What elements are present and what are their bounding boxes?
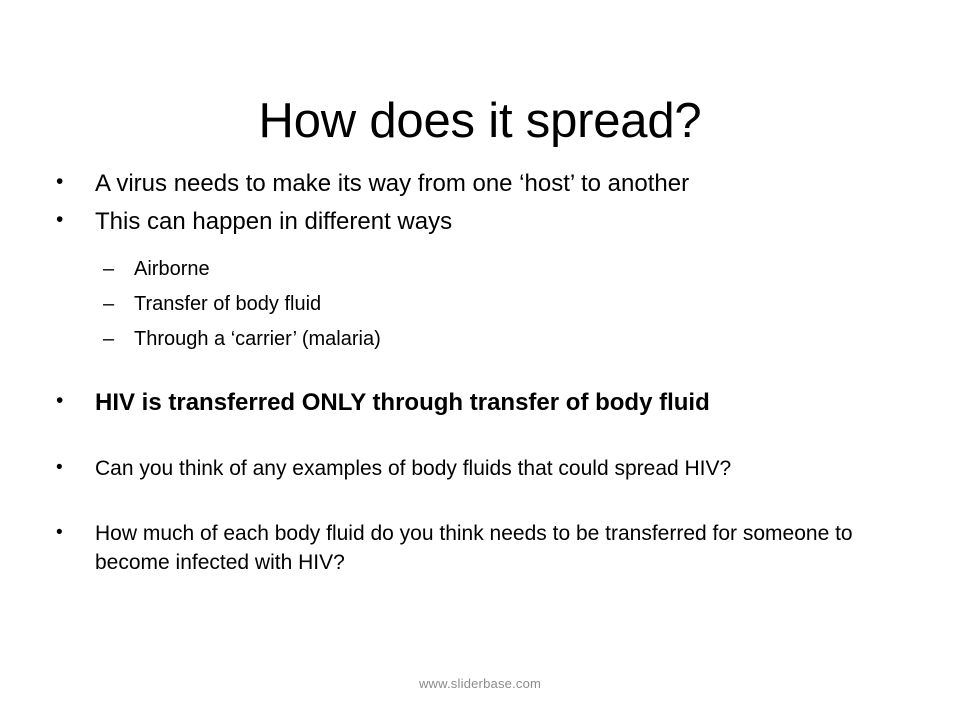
bullet-marker-icon: • [56, 168, 63, 196]
page-title: How does it spread? [0, 95, 960, 149]
list-item: • This can happen in different ways [56, 206, 904, 238]
slide: How does it spread? • A virus needs to m… [0, 0, 960, 720]
spacer [56, 361, 904, 387]
bullet-marker-icon: • [56, 455, 63, 481]
bullet-list: • A virus needs to make its way from one… [56, 168, 904, 578]
list-item: – Transfer of body fluid [56, 291, 904, 317]
list-item: – Airborne [56, 256, 904, 282]
list-item-label: HIV is transferred ONLY through transfer… [95, 387, 904, 419]
list-item-label: How much of each body fluid do you think… [95, 520, 904, 578]
list-item: – Through a ‘carrier’ (malaria) [56, 326, 904, 352]
spacer [56, 490, 904, 520]
list-item-label: Through a ‘carrier’ (malaria) [134, 326, 904, 352]
spacer [56, 244, 904, 256]
bullet-marker-icon: • [56, 387, 63, 415]
footer-watermark: www.sliderbase.com [0, 676, 960, 691]
spacer [56, 425, 904, 455]
bullet-marker-icon: • [56, 520, 63, 546]
dash-marker-icon: – [103, 291, 114, 317]
list-item-label: A virus needs to make its way from one ‘… [95, 168, 904, 200]
list-item-emphasis: • HIV is transferred ONLY through transf… [56, 387, 904, 419]
bullet-marker-icon: • [56, 206, 63, 234]
list-item-label: Can you think of any examples of body fl… [95, 455, 904, 484]
dash-marker-icon: – [103, 256, 114, 282]
list-item-label: Airborne [134, 256, 904, 282]
list-item: • Can you think of any examples of body … [56, 455, 904, 484]
list-item: • A virus needs to make its way from one… [56, 168, 904, 200]
list-item-label: This can happen in different ways [95, 206, 904, 238]
list-item: • How much of each body fluid do you thi… [56, 520, 904, 578]
dash-marker-icon: – [103, 326, 114, 352]
list-item-label: Transfer of body fluid [134, 291, 904, 317]
slide-body: • A virus needs to make its way from one… [56, 168, 904, 584]
